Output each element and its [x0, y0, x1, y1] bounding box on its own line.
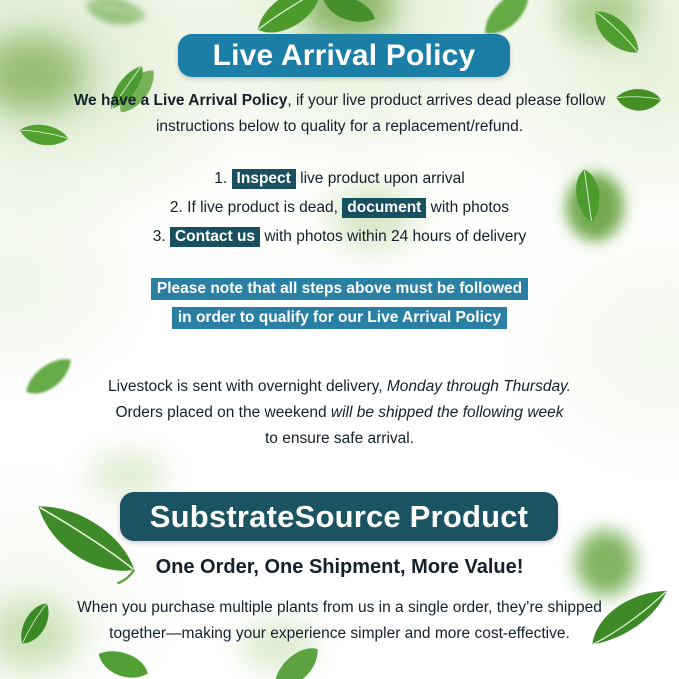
poster-content: Live Arrival Policy We have a Live Arriv…	[0, 0, 679, 679]
substratesource-body-paragraph: When you purchase multiple plants from u…	[0, 595, 679, 647]
live-arrival-policy-banner: Live Arrival Policy	[178, 34, 510, 77]
shipping-line-1: Livestock is sent with overnight deliver…	[0, 374, 679, 400]
intro-line-1: We have a Live Arrival Policy, if your l…	[0, 88, 679, 114]
policy-note-line-2: in order to qualify for our Live Arrival…	[172, 307, 507, 329]
step-highlight: Contact us	[170, 227, 260, 247]
step-number: 1.	[214, 170, 227, 187]
list-item: 2. If live product is dead, document wit…	[0, 193, 679, 222]
step-number: 3.	[153, 228, 166, 245]
substratesource-product-banner: SubstrateSource Product	[120, 492, 558, 541]
shipping-line-2-plain: Orders placed on the weekend	[115, 404, 326, 421]
outro-line-2: together—making your experience simpler …	[0, 621, 679, 647]
intro-line-2: instructions below to quality for a repl…	[0, 114, 679, 140]
step-text: with photos	[431, 199, 509, 216]
list-item: 1. Inspect live product upon arrival	[0, 164, 679, 193]
policy-note-callout: Please note that all steps above must be…	[0, 274, 679, 332]
live-arrival-policy-banner-label: Live Arrival Policy	[213, 39, 476, 73]
substratesource-subheadline: One Order, One Shipment, More Value!	[0, 556, 679, 579]
shipping-line-1-italic: Monday through Thursday.	[387, 378, 571, 395]
substratesource-product-banner-label: SubstrateSource Product	[150, 499, 528, 535]
live-arrival-intro-paragraph: We have a Live Arrival Policy, if your l…	[0, 88, 679, 140]
outro-line-1: When you purchase multiple plants from u…	[0, 595, 679, 621]
list-item: 3. Contact us with photos within 24 hour…	[0, 222, 679, 251]
policy-note-line-1: Please note that all steps above must be…	[151, 278, 528, 300]
livestock-shipping-paragraph: Livestock is sent with overnight deliver…	[0, 374, 679, 452]
shipping-line-2: Orders placed on the weekend will be shi…	[0, 400, 679, 426]
intro-line-1-rest: , if your live product arrives dead plea…	[287, 92, 605, 109]
step-highlight: Inspect	[232, 169, 296, 189]
step-number: 2.	[170, 199, 183, 216]
shipping-line-2-italic: will be shipped the following week	[331, 404, 564, 421]
policy-note-line-1-wrap: Please note that all steps above must be…	[0, 274, 679, 303]
intro-line-1-bold: We have a Live Arrival Policy	[74, 92, 288, 109]
live-arrival-steps-list: 1. Inspect live product upon arrival 2. …	[0, 164, 679, 251]
shipping-line-1-plain: Livestock is sent with overnight deliver…	[108, 378, 383, 395]
step-highlight: document	[342, 198, 426, 218]
shipping-line-3: to ensure safe arrival.	[0, 426, 679, 452]
policy-note-line-2-wrap: in order to qualify for our Live Arrival…	[0, 303, 679, 332]
step-text: live product upon arrival	[300, 170, 465, 187]
step-pre-text: If live product is dead,	[187, 199, 338, 216]
poster-canvas: Live Arrival Policy We have a Live Arriv…	[0, 0, 679, 679]
step-text: with photos within 24 hours of delivery	[264, 228, 526, 245]
